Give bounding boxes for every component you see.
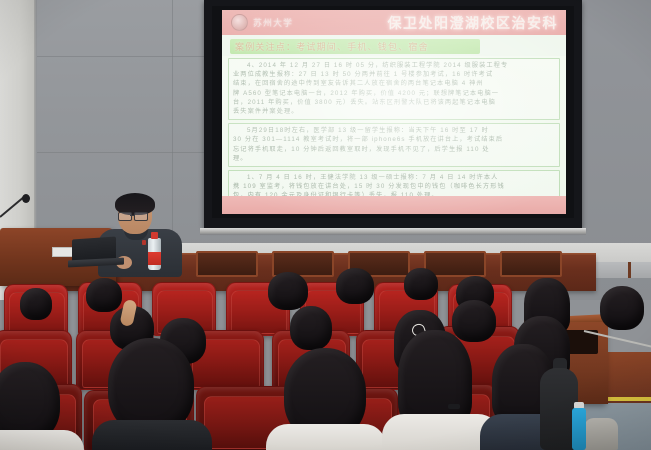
gooseneck-microphone (0, 180, 28, 228)
presenter-badge-icon (142, 240, 146, 245)
attendee-head (20, 288, 52, 320)
lecture-hall-photo: 苏州大学 保卫处阳澄湖校区治安科 案例关注点：考试期间、手机、钱包、宿舍 4、2… (0, 0, 651, 450)
wristband (448, 404, 460, 409)
blue-water-bottle (572, 408, 586, 450)
attendee-shoulders (92, 420, 212, 450)
attendee-head (600, 286, 644, 330)
glasses-icon (118, 212, 132, 221)
slide-body: 4、2014 年 12 月 27 日 16 时 05 分，纺织服装工程学院 20… (222, 56, 566, 196)
slide-text-line: 1、7 月 4 日 16 时，王健法学院 13 级一硕士报称：7 月 4 日 1… (233, 173, 555, 182)
slide-footer-bar (222, 196, 566, 214)
attendee-head (336, 268, 374, 304)
attendee-head (268, 272, 308, 310)
slide-banner: 案例关注点：考试期间、手机、钱包、宿舍 (230, 39, 480, 54)
presentation-slide: 苏州大学 保卫处阳澄湖校区治安科 案例关注点：考试期间、手机、钱包、宿舍 4、2… (222, 10, 566, 214)
slide-text-line: 结束，在回宿舍的途中传到室友告诉其二人放在宿舍的两台笔记本电脑 4 神州 (233, 79, 555, 88)
slide-text-line: 忘记将手机取走，10 分钟后返回教室取时，发现手机不见了，后学生报 110 处 (233, 145, 555, 154)
slide-paragraph-box: 4、2014 年 12 月 27 日 16 时 05 分，纺织服装工程学院 20… (228, 58, 560, 120)
projection-screen-surface: 苏州大学 保卫处阳澄湖校区治安科 案例关注点：考试期间、手机、钱包、宿舍 4、2… (212, 6, 574, 218)
slide-text-line: 业两位成教生报称：27 日 13 时 50 分两并前往 1 号楼参加考试，16 … (233, 70, 555, 79)
slide-text-line: 4、2014 年 12 月 27 日 16 时 05 分，纺织服装工程学院 20… (233, 61, 555, 70)
stage-chair (500, 251, 562, 277)
microphone-stem (0, 197, 24, 218)
slide-title: 保卫处阳澄湖校区治安科 (388, 13, 559, 33)
attendee-head (86, 278, 122, 312)
glasses-icon (134, 212, 148, 221)
window-mullion (628, 262, 631, 278)
slide-text-line: 牌 A560 型笔记本电脑一台，2012 年购买，价值 4200 元；联想牌笔记… (233, 89, 555, 98)
university-name-label: 苏州大学 (253, 16, 293, 29)
attendee-shoulders (266, 424, 386, 450)
stage-chair (196, 251, 258, 277)
bottle-label (148, 252, 161, 265)
university-seal-icon (231, 14, 248, 31)
attendee-shoulders (0, 430, 84, 450)
slide-paragraph-box: 5月29日18时左右，医学部 13 级一留学生报称：当天下午 16 时至 17 … (228, 123, 560, 167)
slide-text-line: 携 109 室监考，将钱包放在讲台处，15 时 30 分发现包中的钱包（咖啡色长… (233, 182, 555, 191)
slide-header-bar: 苏州大学 保卫处阳澄湖校区治安科 (222, 10, 566, 35)
slide-text-line: 5月29日18时左右，医学部 13 级一留学生报称：当天下午 16 时至 17 … (233, 126, 555, 135)
attendee-head (404, 268, 438, 300)
bottle-cap (151, 232, 158, 239)
water-bottle (148, 232, 161, 270)
slide-banner-text: 案例关注点：考试期间、手机、钱包、宿舍 (235, 40, 429, 53)
slide-text-line: 理。 (233, 154, 555, 163)
slide-text-line: 30 分在 301—1114 教室考试时，将一部 iphone6s 手机放在讲台… (233, 135, 555, 144)
screen-bottom-rail (200, 228, 586, 235)
attendee-head (452, 300, 496, 342)
slide-text-line: 丢失案件并案处理。 (233, 107, 555, 116)
slide-text-line: 台，2011 年购买，价值 3800 元）丢失。站东区刑警大队已将该两起笔记本电… (233, 98, 555, 107)
projection-screen-frame: 苏州大学 保卫处阳澄湖校区治安科 案例关注点：考试期间、手机、钱包、宿舍 4、2… (204, 0, 582, 228)
microphone-head-icon (22, 194, 30, 203)
gray-bag (584, 418, 618, 450)
attendee-head (290, 306, 332, 350)
glasses-bridge (130, 215, 135, 216)
